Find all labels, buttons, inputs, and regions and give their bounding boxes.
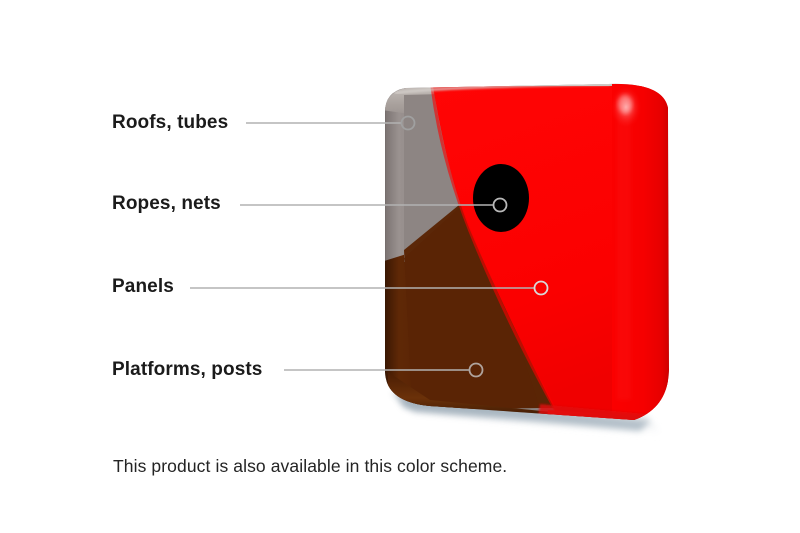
callout-label-roofs-tubes: Roofs, tubes <box>112 113 228 132</box>
callout-label-panels: Panels <box>112 277 174 296</box>
product-body <box>380 80 680 430</box>
figure-caption: This product is also available in this c… <box>113 456 507 477</box>
product-illustration <box>0 0 800 533</box>
callout-label-ropes-nets: Ropes, nets <box>112 194 221 213</box>
callout-label-platforms-posts: Platforms, posts <box>112 360 262 379</box>
illustration-page: Roofs, tubes Ropes, nets Panels Platform… <box>0 0 800 533</box>
